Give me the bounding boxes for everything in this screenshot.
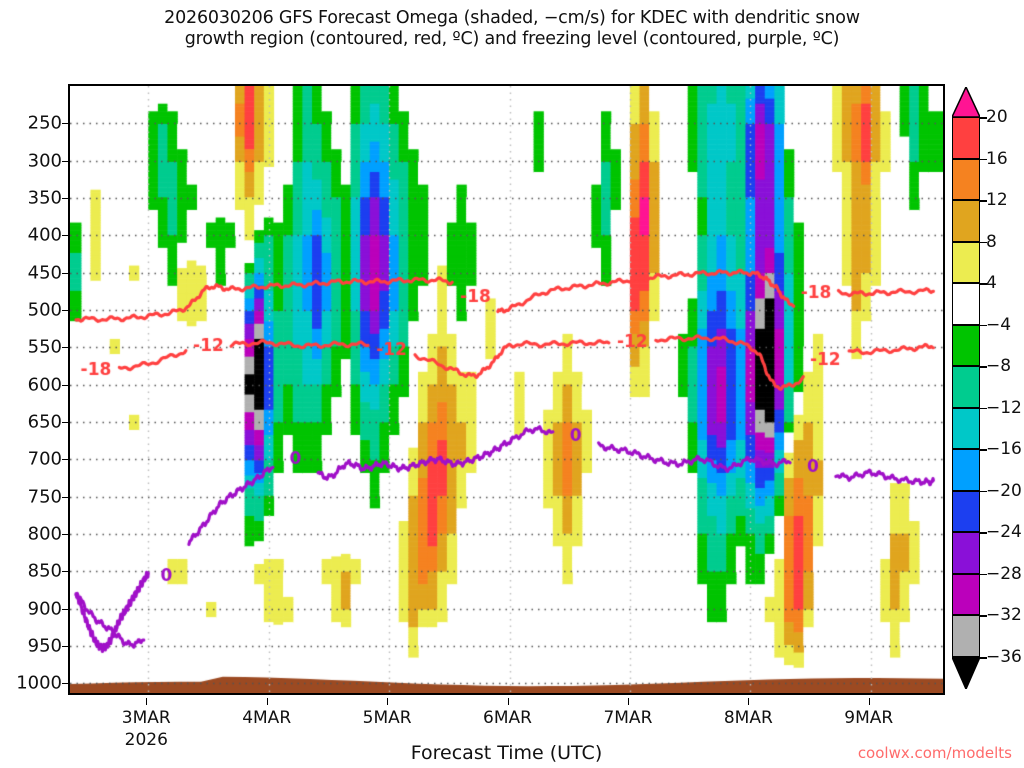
colorbar-label-20: 20 [986,107,1008,127]
colorbar-label--24: −24 [986,522,1022,542]
colorbar-label--28: −28 [986,564,1022,584]
colorbar-band-2 [952,200,980,242]
x-axis-tick [508,698,509,705]
y-axis-tick [62,198,68,199]
y-axis-tick [62,161,68,162]
colorbar-under-arrow [952,657,980,689]
x-axis-tick [267,698,268,705]
y-axis-label-600: 600 [28,374,62,395]
y-axis-tick [62,235,68,236]
y-axis-tick [62,273,68,274]
colorbar-label--4: −4 [986,315,1011,335]
colorbar-tick [980,366,987,368]
colorbar-band-0 [952,117,980,159]
colorbar-band-5 [952,325,980,367]
y-axis-label-950: 950 [28,635,62,656]
y-axis-tick [62,347,68,348]
colorbar-band-12 [952,615,980,657]
colorbar-tick [980,574,987,576]
y-axis-tick [62,385,68,386]
colorbar-label-16: 16 [986,149,1008,169]
x-axis-label-6MAR: 6MAR [483,708,532,728]
x-axis-tick [869,698,870,705]
colorbar-tick [980,657,987,659]
colorbar-label-12: 12 [986,190,1008,210]
x-axis-tick [387,698,388,705]
colorbar-tick [980,491,987,493]
y-axis-label-550: 550 [28,337,62,358]
colorbar-band-7 [952,408,980,450]
y-axis: 2503003504004505005506006507007508008509… [0,84,62,695]
colorbar-band-9 [952,491,980,533]
colorbar-tick [980,117,987,119]
colorbar-over-arrow [952,87,980,117]
y-axis-label-750: 750 [28,486,62,507]
chart-title-line1: 2026030206 GFS Forecast Omega (shaded, −… [0,8,1024,29]
x-axis-label-5MAR: 5MAR [363,708,412,728]
colorbar-band-10 [952,532,980,574]
colorbar-band-8 [952,449,980,491]
y-axis-tick [62,123,68,124]
colorbar-label--12: −12 [986,398,1022,418]
y-axis-label-250: 250 [28,113,62,134]
colorbar-band-1 [952,159,980,201]
y-axis-label-450: 450 [28,262,62,283]
colorbar-tick [980,283,987,285]
y-axis-tick [62,683,68,684]
x-axis-tick [748,698,749,705]
colorbar-tick [980,615,987,617]
y-axis-tick [62,497,68,498]
colorbar-label--8: −8 [986,356,1011,376]
colorbar-tick [980,449,987,451]
y-axis-label-400: 400 [28,225,62,246]
colorbar-band-4 [952,283,980,325]
colorbar-label-4: 4 [986,273,997,293]
chart-title: 2026030206 GFS Forecast Omega (shaded, −… [0,8,1024,50]
y-axis-tick [62,571,68,572]
y-axis-label-1000: 1000 [16,673,62,694]
y-axis-label-500: 500 [28,299,62,320]
y-axis-label-900: 900 [28,598,62,619]
y-axis-label-700: 700 [28,449,62,470]
y-axis-tick [62,459,68,460]
y-axis-label-650: 650 [28,411,62,432]
x-axis-title: Forecast Time (UTC) [68,742,945,764]
colorbar-tick [980,325,987,327]
x-axis-label-9MAR: 9MAR [844,708,893,728]
y-axis-label-300: 300 [28,150,62,171]
y-axis-label-850: 850 [28,561,62,582]
colorbar-band-6 [952,366,980,408]
watermark: coolwx.com/modelts [858,744,1012,762]
x-axis-tick [146,698,147,705]
plot-area [68,84,945,695]
colorbar-band-3 [952,242,980,284]
contour-layer [70,86,943,693]
x-axis-label-3MAR: 3MAR [122,708,171,728]
chart-title-line2: growth region (contoured, red, ºC) and f… [0,29,1024,50]
x-axis-label-7MAR: 7MAR [603,708,652,728]
plot-canvas-wrap [70,86,943,693]
colorbar: 20161284−4−8−12−16−20−24−28−32−36 [952,117,980,657]
colorbar-tick [980,242,987,244]
y-axis-tick [62,609,68,610]
colorbar-label--16: −16 [986,439,1022,459]
colorbar-label--20: −20 [986,481,1022,501]
y-axis-label-350: 350 [28,187,62,208]
colorbar-label-8: 8 [986,232,997,252]
colorbar-tick [980,532,987,534]
colorbar-tick [980,408,987,410]
x-axis-tick [628,698,629,705]
y-axis-tick [62,310,68,311]
x-axis-label-4MAR: 4MAR [242,708,291,728]
colorbar-label--32: −32 [986,605,1022,625]
colorbar-band-11 [952,574,980,616]
y-axis-tick [62,422,68,423]
y-axis-tick [62,534,68,535]
colorbar-label--36: −36 [986,647,1022,667]
y-axis-tick [62,646,68,647]
y-axis-label-800: 800 [28,523,62,544]
colorbar-tick [980,159,987,161]
x-axis-label-8MAR: 8MAR [724,708,773,728]
colorbar-tick [980,200,987,202]
